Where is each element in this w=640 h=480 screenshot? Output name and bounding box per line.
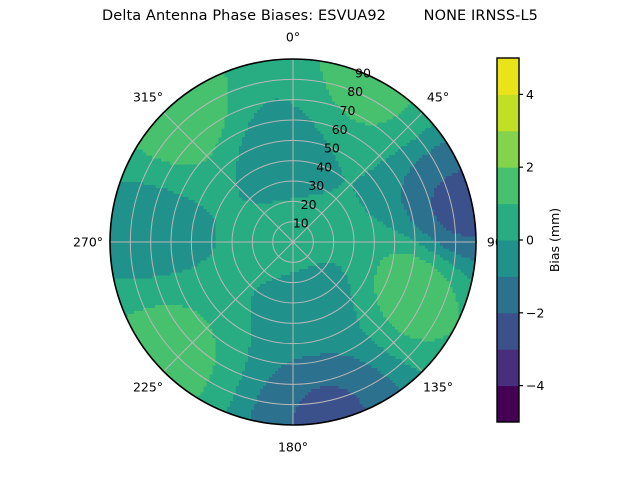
radial-label-80: 80 xyxy=(347,84,363,99)
colorbar-tick-label: −2 xyxy=(526,305,544,320)
colorbar-band xyxy=(497,349,519,386)
azimuth-label-315: 315° xyxy=(133,90,163,105)
colorbar-tick-label: −4 xyxy=(526,378,544,393)
radial-label-60: 60 xyxy=(332,122,348,137)
polar-plot: 0°45°90°135°180°225°270°315° 10203040506… xyxy=(0,0,640,480)
azimuth-label-180: 180° xyxy=(278,440,308,455)
colorbar-band xyxy=(497,167,519,204)
colorbar-tick-label: 2 xyxy=(526,160,534,175)
azimuth-label-270: 270° xyxy=(73,235,103,250)
radial-label-10: 10 xyxy=(293,216,309,231)
colorbar-tick-label: 0 xyxy=(526,233,534,248)
colorbar-band xyxy=(497,94,519,131)
figure-canvas: Delta Antenna Phase Biases: ESVUA92 NONE… xyxy=(0,0,640,480)
colorbar-band xyxy=(497,204,519,241)
colorbar-band xyxy=(497,131,519,168)
azimuth-label-0: 0° xyxy=(286,30,300,45)
colorbar-band xyxy=(497,58,519,95)
polar-grid-layer xyxy=(110,59,476,425)
azimuth-label-225: 225° xyxy=(133,380,163,395)
radial-label-40: 40 xyxy=(316,159,332,174)
azimuth-label-45: 45° xyxy=(427,90,449,105)
radial-label-70: 70 xyxy=(340,103,356,118)
azimuth-label-135: 135° xyxy=(423,380,453,395)
colorbar-band xyxy=(497,313,519,350)
colorbar-tick-label: 4 xyxy=(526,87,534,102)
colorbar-axis-label: Bias (mm) xyxy=(547,208,562,272)
colorbar-band xyxy=(497,276,519,313)
radial-label-90: 90 xyxy=(355,65,371,80)
radial-label-30: 30 xyxy=(308,178,324,193)
radial-label-20: 20 xyxy=(301,197,317,212)
colorbar-band xyxy=(497,386,519,423)
colorbar: −4−2024Bias (mm) xyxy=(497,58,562,423)
radial-label-50: 50 xyxy=(324,141,340,156)
colorbar-band xyxy=(497,240,519,277)
